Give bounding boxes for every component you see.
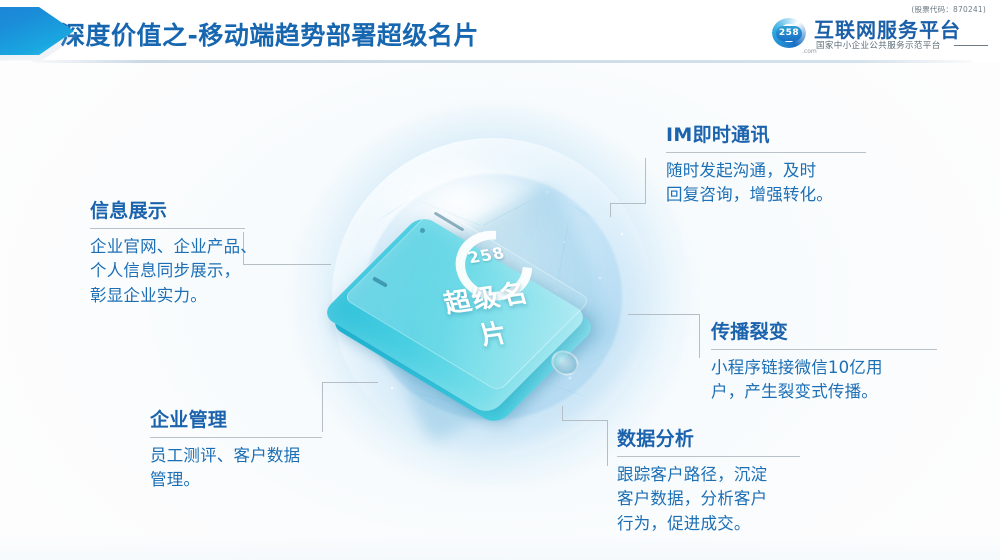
callout-viral-spread-rule <box>711 349 937 350</box>
callout-enterprise-mgmt-rule <box>150 437 322 438</box>
callout-im-chat-body: 随时发起沟通，及时 回复咨询，增强转化。 <box>666 159 896 208</box>
connector-im-v2 <box>610 203 611 217</box>
connector-data-v <box>607 420 608 466</box>
callout-im-chat-rule <box>666 152 866 153</box>
callout-im-chat-title: IM即时通讯 <box>666 120 896 147</box>
connector-enterprise-h <box>322 382 378 383</box>
callout-enterprise-mgmt-title: 企业管理 <box>150 405 360 432</box>
connector-im-v <box>645 158 646 204</box>
callout-data-analysis[interactable]: 数据分析 跟踪客户路径，沉淀 客户数据，分析客户 行为，促进成交。 <box>617 424 837 536</box>
connector-data-h <box>562 420 608 421</box>
callout-data-analysis-title: 数据分析 <box>617 424 837 451</box>
callout-viral-spread-body: 小程序链接微信10亿用 户，产生裂变式传播。 <box>711 356 951 405</box>
logo-258-number: 258 <box>776 26 802 41</box>
tilted-smartphone-icon: 258 超级名 片 <box>358 192 638 412</box>
callout-data-analysis-rule <box>617 456 800 457</box>
callout-info-display[interactable]: 信息展示 企业官网、企业产品、 个人信息同步展示， 彰显企业实力。 <box>90 196 290 308</box>
brand-logo: (股票代码：870241) 258 .com 互联网服务平台 国家中小企业公共服… <box>766 6 992 54</box>
connector-viral-h <box>628 314 700 315</box>
slide-canvas: 深度价值之-移动端趋势部署超级名片 (股票代码：870241) 258 .com… <box>0 0 1000 560</box>
connector-viral-v <box>699 314 700 358</box>
callout-info-display-rule <box>90 228 245 229</box>
connector-data-v2 <box>562 406 563 421</box>
phone-camera-icon <box>420 228 425 233</box>
callout-info-display-title: 信息展示 <box>90 196 290 223</box>
logo-dash-rule <box>954 45 988 46</box>
callout-enterprise-mgmt-body: 员工测评、客户数据 管理。 <box>150 444 360 493</box>
logo-sub-text: 国家中小企业公共服务示范平台 <box>816 39 941 51</box>
callout-viral-spread-title: 传播裂变 <box>711 317 951 344</box>
callout-info-display-body: 企业官网、企业产品、 个人信息同步展示， 彰显企业实力。 <box>90 235 290 308</box>
center-graphic: 258 超级名 片 <box>318 130 668 460</box>
callout-viral-spread[interactable]: 传播裂变 小程序链接微信10亿用 户，产生裂变式传播。 <box>711 317 951 405</box>
bottom-fade <box>0 534 1000 560</box>
slide-header: 深度价值之-移动端趋势部署超级名片 (股票代码：870241) 258 .com… <box>0 0 1000 62</box>
logo-domain-label: .com <box>802 48 817 55</box>
callout-im-chat[interactable]: IM即时通讯 随时发起沟通，及时 回复咨询，增强转化。 <box>666 120 896 208</box>
connector-im-h <box>610 203 646 204</box>
callout-enterprise-mgmt[interactable]: 企业管理 员工测评、客户数据 管理。 <box>150 405 360 493</box>
header-divider <box>32 60 972 63</box>
logo-258-icon: 258 .com <box>772 18 808 50</box>
callout-data-analysis-body: 跟踪客户路径，沉淀 客户数据，分析客户 行为，促进成交。 <box>617 463 837 536</box>
page-title: 深度价值之-移动端趋势部署超级名片 <box>60 16 479 52</box>
